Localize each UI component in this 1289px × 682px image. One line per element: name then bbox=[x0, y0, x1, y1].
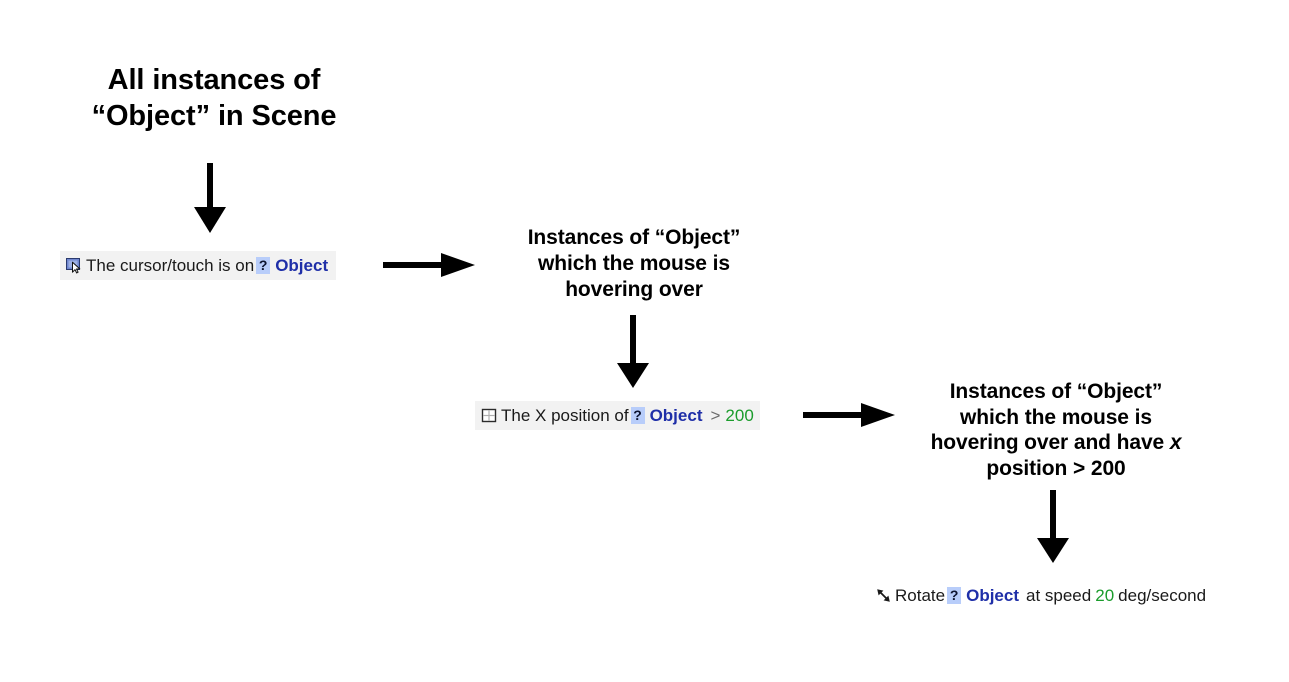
parameter-object-label: Object bbox=[966, 586, 1019, 606]
parameter-object-label: Object bbox=[275, 256, 328, 276]
annotation-part-post: position > 200 bbox=[986, 457, 1125, 480]
condition-cursor-on-object[interactable]: The cursor/touch is on ? Object bbox=[60, 251, 336, 280]
condition-text-before: The X position of bbox=[501, 406, 629, 426]
action-speed-value[interactable]: 20 bbox=[1095, 586, 1114, 606]
arrow-down-1 bbox=[188, 163, 232, 240]
question-mark-icon: ? bbox=[256, 257, 270, 274]
annotation-part-italic-x: x bbox=[1170, 431, 1182, 454]
parameter-object-label: Object bbox=[650, 406, 703, 426]
cursor-on-object-icon bbox=[65, 257, 83, 275]
comparison-operator[interactable]: > bbox=[710, 406, 720, 426]
question-mark-icon: ? bbox=[947, 587, 961, 604]
comparison-value[interactable]: 200 bbox=[725, 406, 753, 426]
position-grid-icon bbox=[480, 407, 498, 425]
annotation-part-pre: Instances of “Object” which the mouse is… bbox=[931, 380, 1170, 455]
parameter-object-3[interactable]: ? Object bbox=[947, 586, 1019, 606]
arrow-right-1 bbox=[383, 248, 479, 287]
action-text-mid: at speed bbox=[1026, 586, 1091, 606]
parameter-object-1[interactable]: ? Object bbox=[256, 256, 328, 276]
arrow-right-2 bbox=[803, 398, 899, 437]
action-text-before: Rotate bbox=[895, 586, 945, 606]
arrow-down-3 bbox=[1029, 490, 1077, 569]
annotation-hovering-x-position: Instances of “Object” which the mouse is… bbox=[918, 353, 1194, 482]
parameter-object-2[interactable]: ? Object bbox=[631, 406, 703, 426]
arrow-down-2 bbox=[609, 315, 657, 394]
rotate-diagonal-arrow-icon bbox=[874, 587, 892, 605]
action-rotate-object[interactable]: Rotate ? Object at speed 20 deg/second bbox=[872, 581, 1210, 610]
action-text-after: deg/second bbox=[1118, 586, 1206, 606]
condition-text-before: The cursor/touch is on bbox=[86, 256, 254, 276]
diagram-canvas: All instances of “Object” in Scene The c… bbox=[0, 0, 1289, 682]
annotation-hovering-instances: Instances of “Object” which the mouse is… bbox=[508, 225, 760, 302]
condition-x-position[interactable]: The X position of ? Object > 200 bbox=[475, 401, 760, 430]
question-mark-icon: ? bbox=[631, 407, 645, 424]
annotation-all-instances: All instances of “Object” in Scene bbox=[60, 63, 368, 134]
